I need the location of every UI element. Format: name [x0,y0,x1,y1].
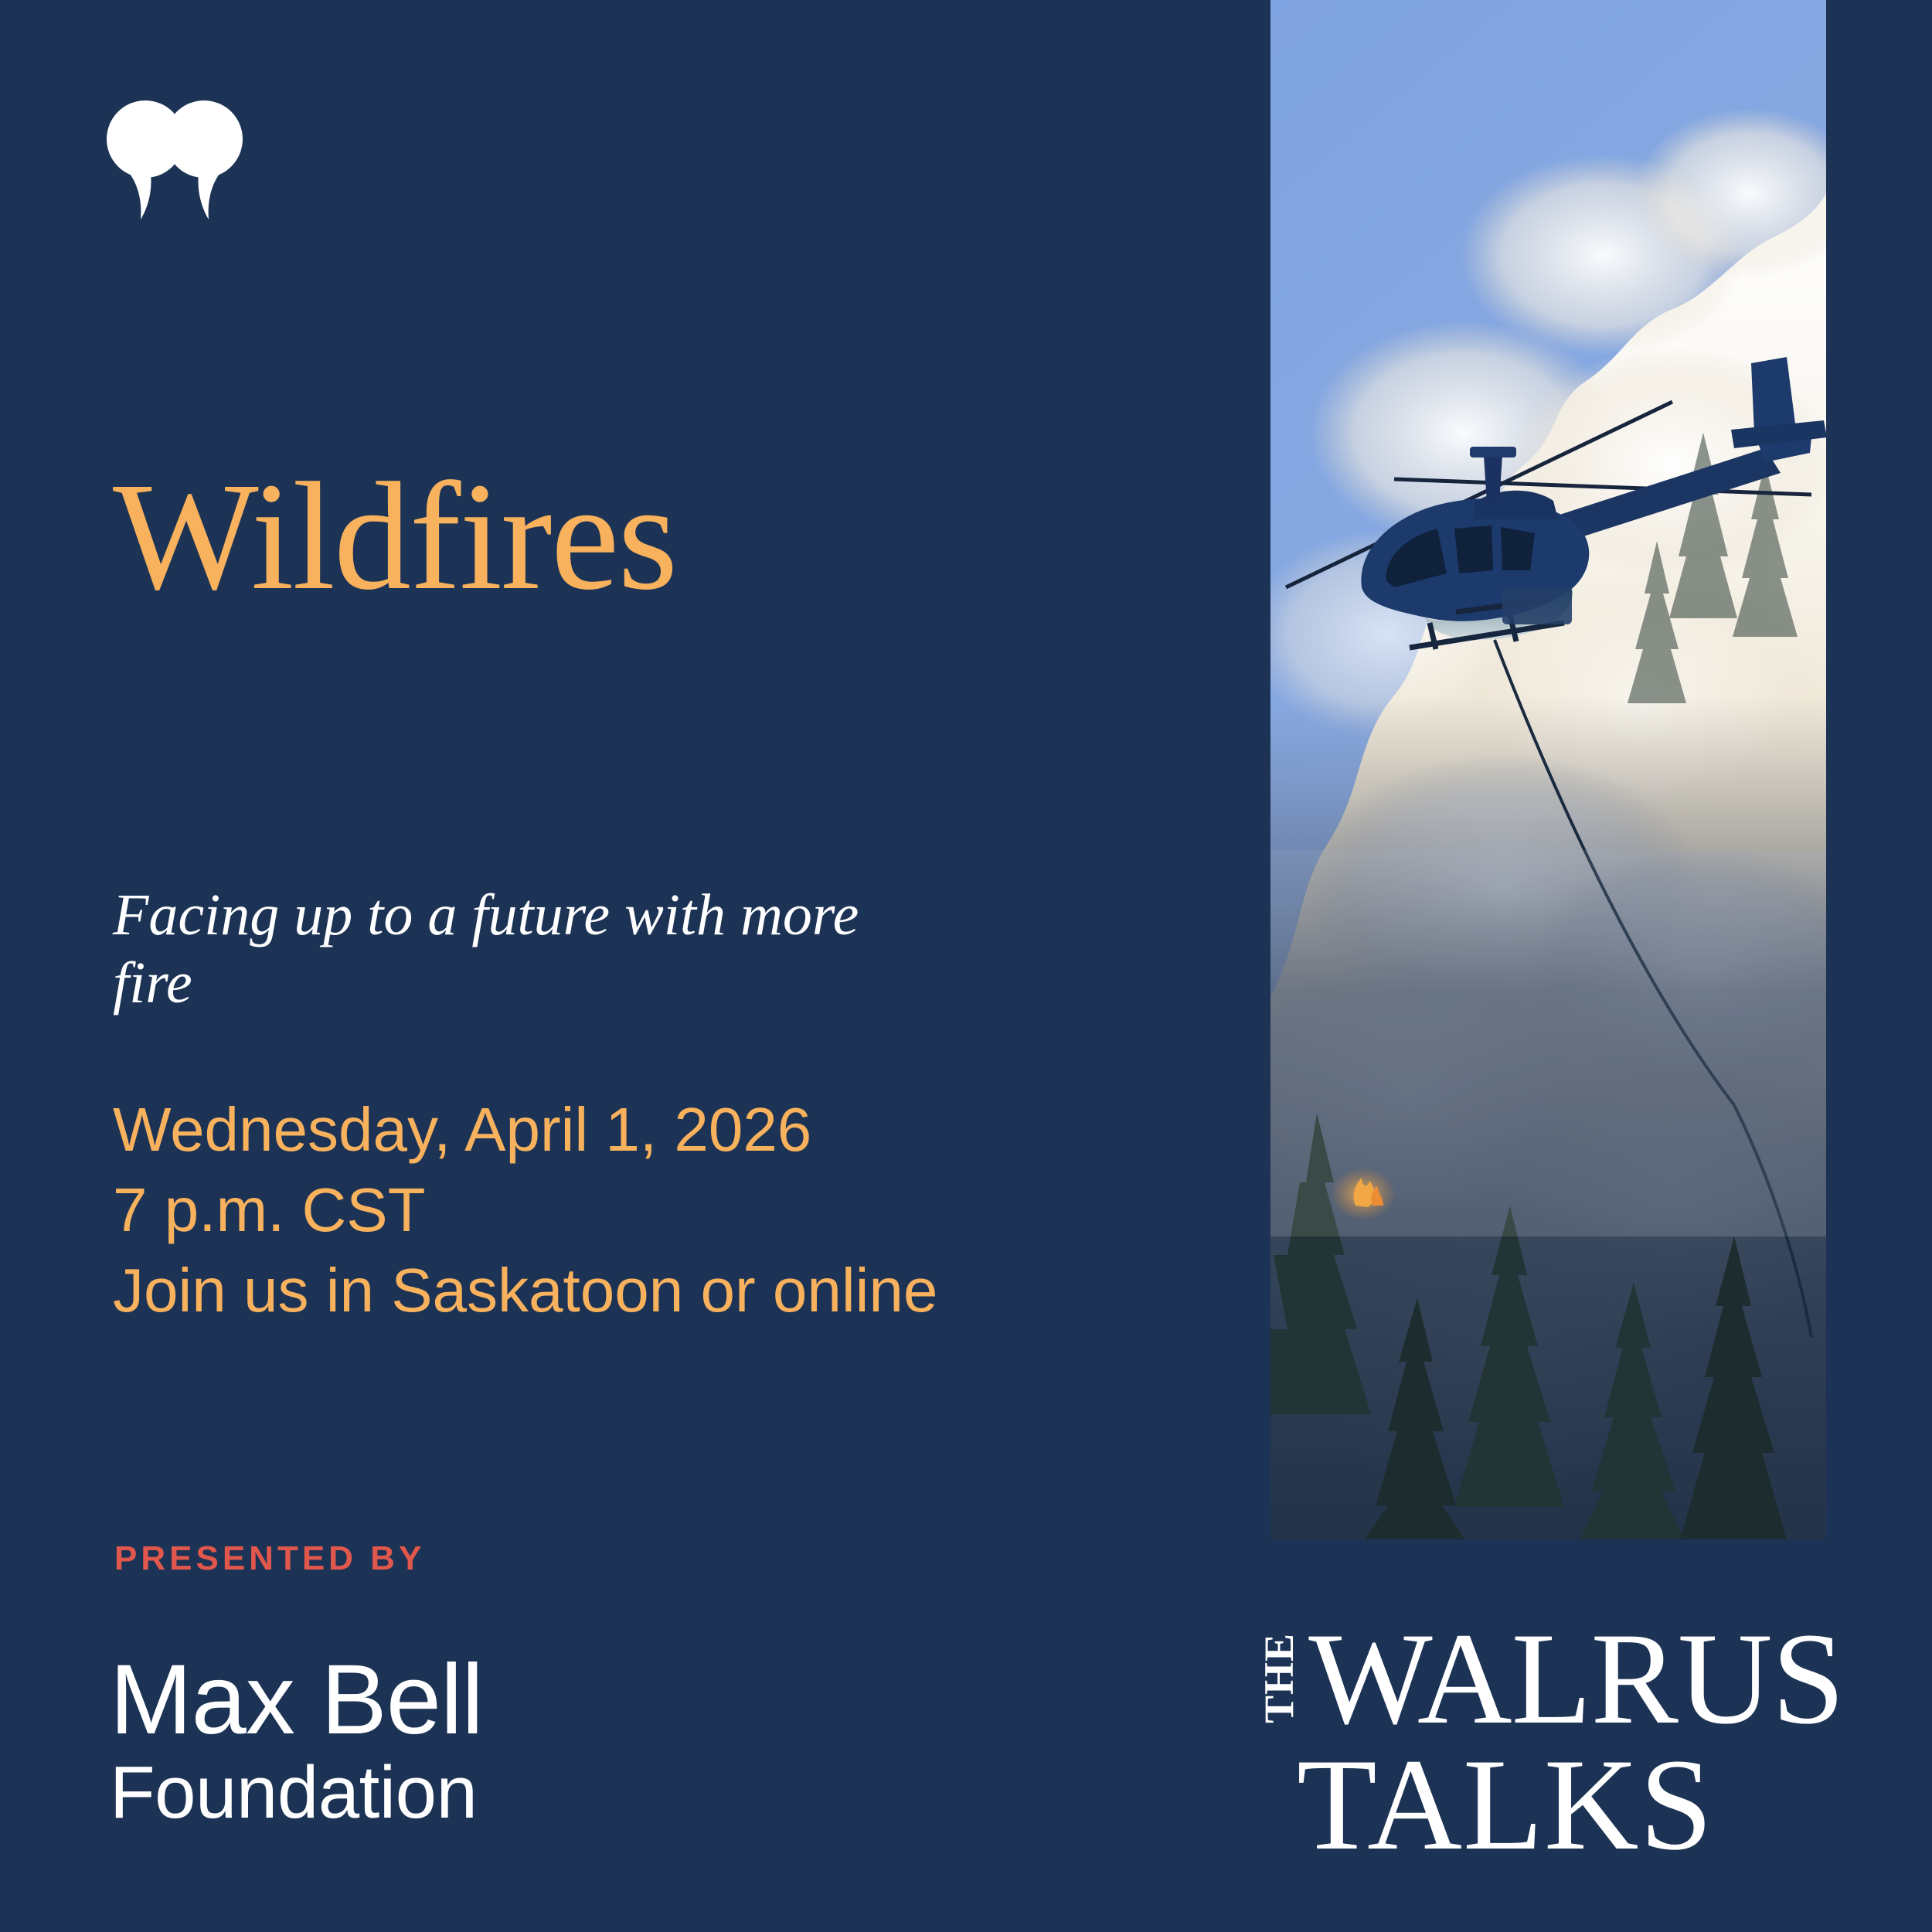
event-poster: Wildfires Facing up to a future with mor… [0,0,1932,1932]
sponsor-name: Max Bell [110,1650,483,1751]
walrus-logo [105,100,244,220]
sponsor-type: Foundation [110,1754,483,1832]
walrus-talks-wordmark: THE WALRUS TALKS [1260,1619,1824,1843]
event-time: 7 p.m. CST [113,1170,1218,1250]
event-date: Wednesday, April 1, 2026 [113,1090,1218,1170]
wildfire-photo [1270,0,1826,1539]
wordmark-row-one: THE WALRUS [1260,1619,1824,1735]
event-details: Wednesday, April 1, 2026 7 p.m. CST Join… [113,1090,1218,1331]
wordmark-walrus: WALRUS [1308,1622,1844,1735]
event-location: Join us in Saskatoon or online [113,1250,1218,1331]
wordmark-talks: TALKS [1297,1746,1824,1864]
walrus-speech-bubbles-icon [105,100,244,220]
wordmark-the: THE [1260,1621,1299,1735]
event-subtitle: Facing up to a future with more fire [113,881,909,1017]
presented-by-label: PRESENTED BY [114,1539,425,1578]
page-title: Wildfires [113,460,676,614]
wildfire-photo-illustration [1270,0,1826,1539]
sponsor-logo: Max Bell Foundation [110,1650,483,1832]
poster-left-column: Wildfires Facing up to a future with mor… [0,0,1270,1932]
